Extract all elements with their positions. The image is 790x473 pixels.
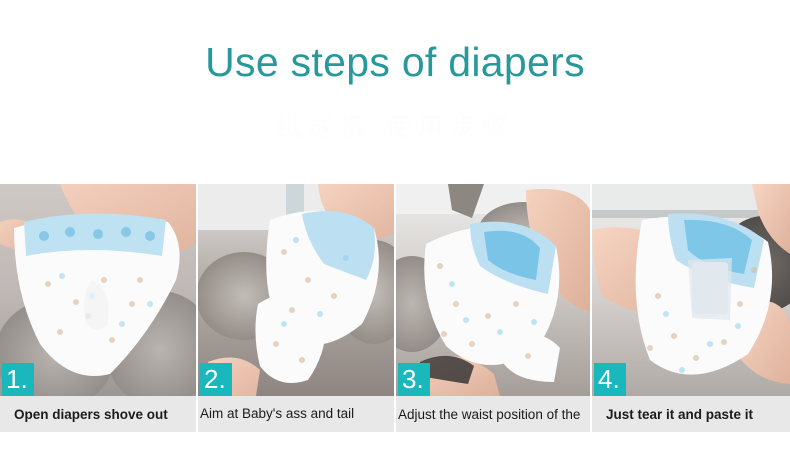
- page-title: Use steps of diapers: [0, 36, 790, 88]
- step-caption-bar-3: Adjust the waist position of the baby: [396, 396, 590, 432]
- step-caption-4: Just tear it and paste it: [606, 404, 790, 425]
- step-caption-2: Aim at Baby's ass and tail: [200, 403, 394, 424]
- steps-strip: 1. Open diapers shove out: [0, 184, 790, 432]
- step-caption-bar-4: Just tear it and paste it: [592, 396, 790, 432]
- step-caption-bar-1: Open diapers shove out: [0, 396, 196, 432]
- step-badge-2: 2.: [200, 363, 232, 396]
- step-panel-4: 4. Just tear it and paste it: [592, 184, 790, 432]
- step-panel-2: 2. Aim at Baby's ass and tail: [198, 184, 394, 432]
- step-badge-4: 4.: [594, 363, 626, 396]
- step-panel-1: 1. Open diapers shove out: [0, 184, 196, 432]
- step-panel-3: 3. Adjust the waist position of the baby: [396, 184, 590, 432]
- header: Use steps of diapers 纸尿裤 使用步骤: [0, 0, 790, 184]
- footer-spacer: [0, 432, 790, 473]
- step-badge-3: 3.: [398, 363, 430, 396]
- step-caption-1: Open diapers shove out: [14, 404, 196, 425]
- step-caption-3: Adjust the waist position of the baby: [398, 403, 590, 432]
- diaper-steps-infographic: Use steps of diapers 纸尿裤 使用步骤: [0, 0, 790, 473]
- page-subtitle: 纸尿裤 使用步骤: [0, 110, 790, 144]
- step-badge-1: 1.: [2, 363, 34, 396]
- step-caption-bar-2: Aim at Baby's ass and tail: [198, 396, 394, 432]
